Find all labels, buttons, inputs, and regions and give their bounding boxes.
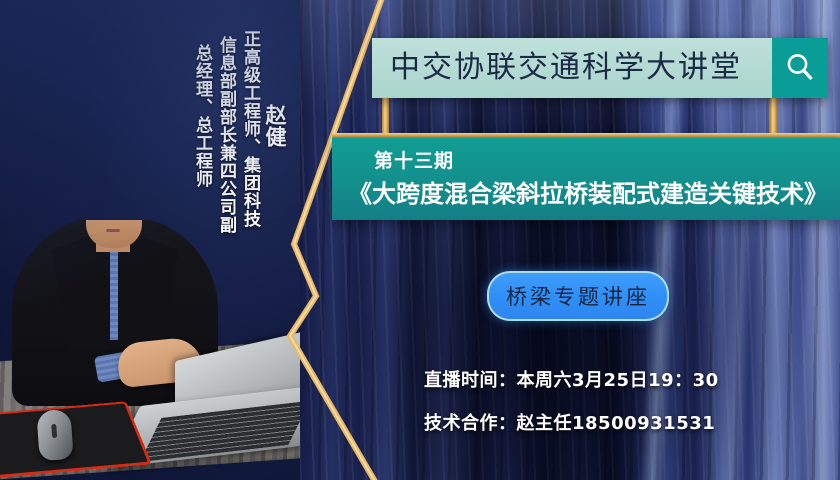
laptop-screen — [175, 331, 300, 447]
speaker-photo — [0, 220, 300, 480]
speaker-name: 赵健 — [264, 104, 286, 148]
poster-canvas: 赵健 正高级工程师、集团科技 信息部副部长兼四公司副 总经理、总工程师 中交协联… — [0, 0, 840, 480]
mouse-pad — [0, 401, 152, 478]
search-button[interactable] — [772, 38, 828, 98]
live-time-text: 直播时间：本周六3月25日19：30 — [424, 366, 719, 392]
lecture-title: 《大跨度混合梁斜拉桥装配式建造关键技术》 — [348, 174, 826, 209]
speaker-title-line-2: 信息部副部长兼四公司副 — [216, 36, 234, 234]
topic-pill-label: 桥梁专题讲座 — [506, 281, 650, 311]
shirt-cuff — [94, 351, 132, 383]
clasped-hands — [116, 336, 204, 389]
laptop-keyboard — [140, 401, 300, 462]
speaker-title-line-3: 总经理、总工程师 — [192, 44, 210, 188]
search-icon — [783, 51, 817, 85]
lecture-band: 第十三期 《大跨度混合梁斜拉桥装配式建造关键技术》 — [332, 138, 840, 220]
suit-lapel-left — [52, 228, 110, 350]
contact-text: 技术合作：赵主任18500931531 — [424, 409, 715, 435]
speaker-title-line-1: 正高级工程师、集团科技 — [240, 30, 258, 228]
speaker-torso — [12, 220, 218, 406]
speaker-shirt — [80, 230, 142, 340]
computer-mouse — [36, 409, 73, 461]
speaker-panel: 赵健 正高级工程师、集团科技 信息部副部长兼四公司副 总经理、总工程师 — [0, 0, 300, 480]
laptop-base — [110, 384, 300, 468]
topic-pill-button[interactable]: 桥梁专题讲座 — [487, 271, 669, 321]
mouth — [106, 229, 120, 232]
suit-lapel-right — [118, 228, 178, 350]
brand-title-text: 中交协联交通科学大讲堂 — [390, 53, 742, 83]
desk — [0, 340, 300, 480]
speaker-head — [86, 220, 142, 248]
brand-title-sign: 中交协联交通科学大讲堂 — [372, 38, 828, 98]
brand-title-plate: 中交协联交通科学大讲堂 — [372, 38, 772, 98]
issue-label: 第十三期 — [374, 146, 454, 173]
speaker-neck — [96, 220, 130, 252]
